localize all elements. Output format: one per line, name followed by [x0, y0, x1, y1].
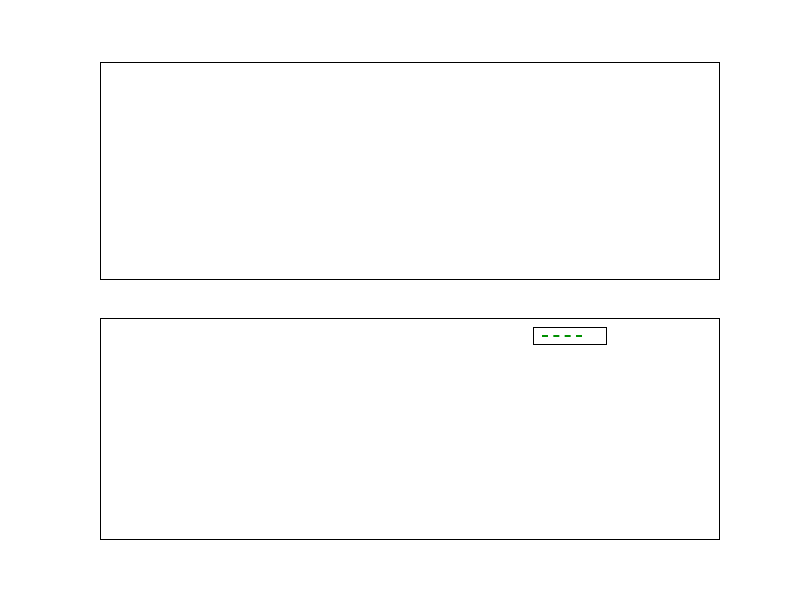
bottom-panel-axes — [100, 318, 720, 540]
cumulative-plot-area — [101, 319, 719, 539]
legend-dashed-line-icon — [542, 335, 582, 337]
figure-canvas — [0, 0, 800, 600]
top-panel-axes — [100, 62, 720, 280]
legend[interactable] — [533, 327, 607, 345]
histogram-plot-area — [101, 63, 719, 279]
